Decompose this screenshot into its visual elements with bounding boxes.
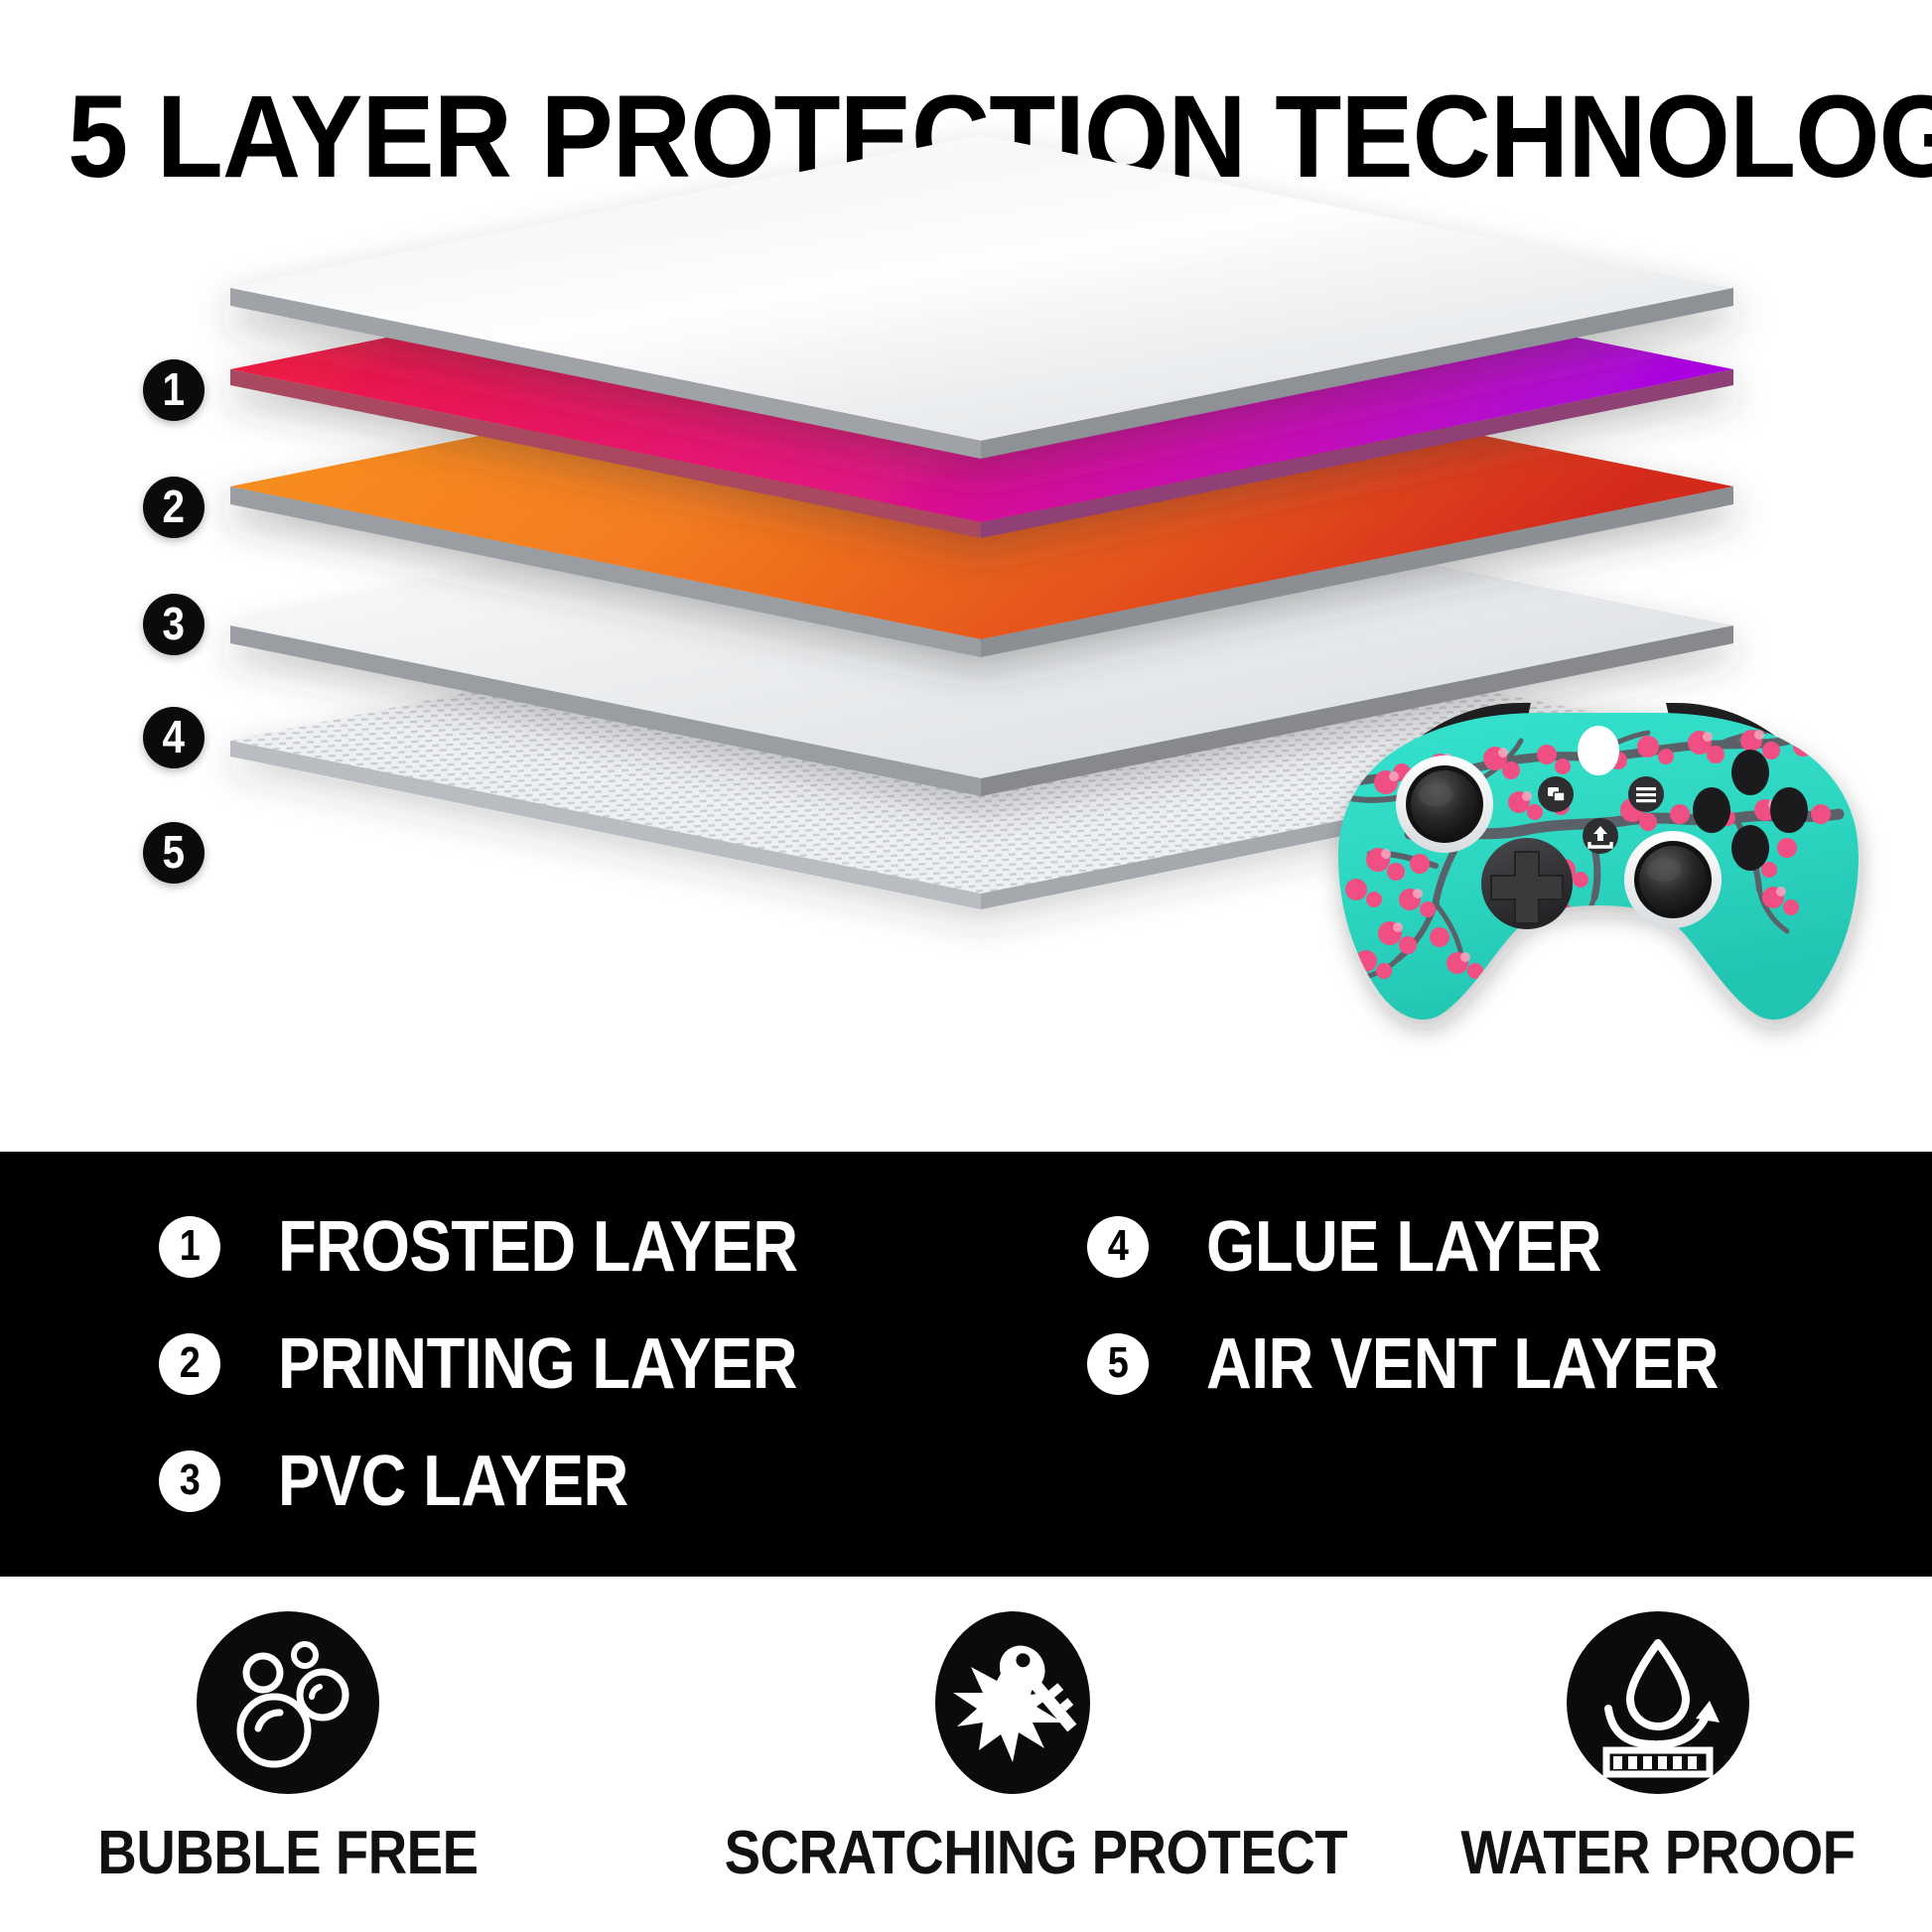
legend-item-frosted-layer: 1 FROSTED LAYER [159, 1199, 869, 1295]
legend-badge-3: 3 [159, 1450, 220, 1512]
layer-legend-panel: 1 FROSTED LAYER 2 PRINTING LAYER 3 PVC L… [0, 1152, 1932, 1577]
game-controller-product-image [1291, 685, 1906, 1052]
legend-column-left: 1 FROSTED LAYER 2 PRINTING LAYER 3 PVC L… [159, 1152, 1013, 1577]
layer-badge-4: 4 [143, 707, 205, 768]
left-analog-stick[interactable] [1396, 756, 1493, 853]
legend-badge-1: 1 [159, 1216, 220, 1278]
legend-item-air-vent-layer: 5 AIR VENT LAYER [1087, 1316, 1788, 1412]
feature-label-water-proof: WATER PROOF [1414, 1823, 1903, 1884]
water-drop-repel-icon [1380, 1588, 1932, 1817]
feature-bubble-free: BUBBLE FREE [10, 1588, 566, 1884]
guide-button[interactable] [1578, 726, 1619, 775]
feature-water-proof: WATER PROOF [1380, 1588, 1932, 1884]
legend-badge-2: 2 [159, 1333, 220, 1395]
layer-badge-3: 3 [143, 594, 205, 655]
feature-scratching-protect: SCRATCHING PROTECT [685, 1588, 1340, 1884]
feature-row: BUBBLE FREE SCRATCHING PROTECT [0, 1588, 1932, 1932]
legend-label-5: AIR VENT LAYER [1206, 1328, 1719, 1400]
bubbles-icon [10, 1588, 566, 1817]
share-button[interactable] [1583, 818, 1618, 854]
feature-label-scratching-protect: SCRATCHING PROTECT [725, 1823, 1302, 1884]
legend-column-right: 4 GLUE LAYER 5 AIR VENT LAYER [1087, 1152, 1931, 1577]
right-analog-stick[interactable] [1624, 831, 1722, 928]
legend-label-2: PRINTING LAYER [278, 1328, 797, 1400]
legend-badge-4: 4 [1087, 1216, 1149, 1278]
legend-item-pvc-layer: 3 PVC LAYER [159, 1434, 676, 1529]
layer-badge-5: 5 [143, 822, 205, 884]
legend-badge-5: 5 [1087, 1333, 1149, 1395]
legend-label-3: PVC LAYER [278, 1446, 628, 1517]
feature-label-bubble-free: BUBBLE FREE [44, 1823, 533, 1884]
legend-item-glue-layer: 4 GLUE LAYER [1087, 1199, 1655, 1295]
menu-button[interactable] [1628, 776, 1664, 812]
legend-label-4: GLUE LAYER [1206, 1211, 1601, 1283]
view-button[interactable] [1538, 776, 1574, 812]
layer-badge-2: 2 [143, 477, 205, 538]
legend-item-printing-layer: 2 PRINTING LAYER [159, 1316, 868, 1412]
key-scratch-icon [685, 1588, 1340, 1817]
legend-label-1: FROSTED LAYER [278, 1211, 798, 1283]
layer-badge-1: 1 [143, 359, 205, 421]
dpad[interactable] [1481, 838, 1573, 929]
